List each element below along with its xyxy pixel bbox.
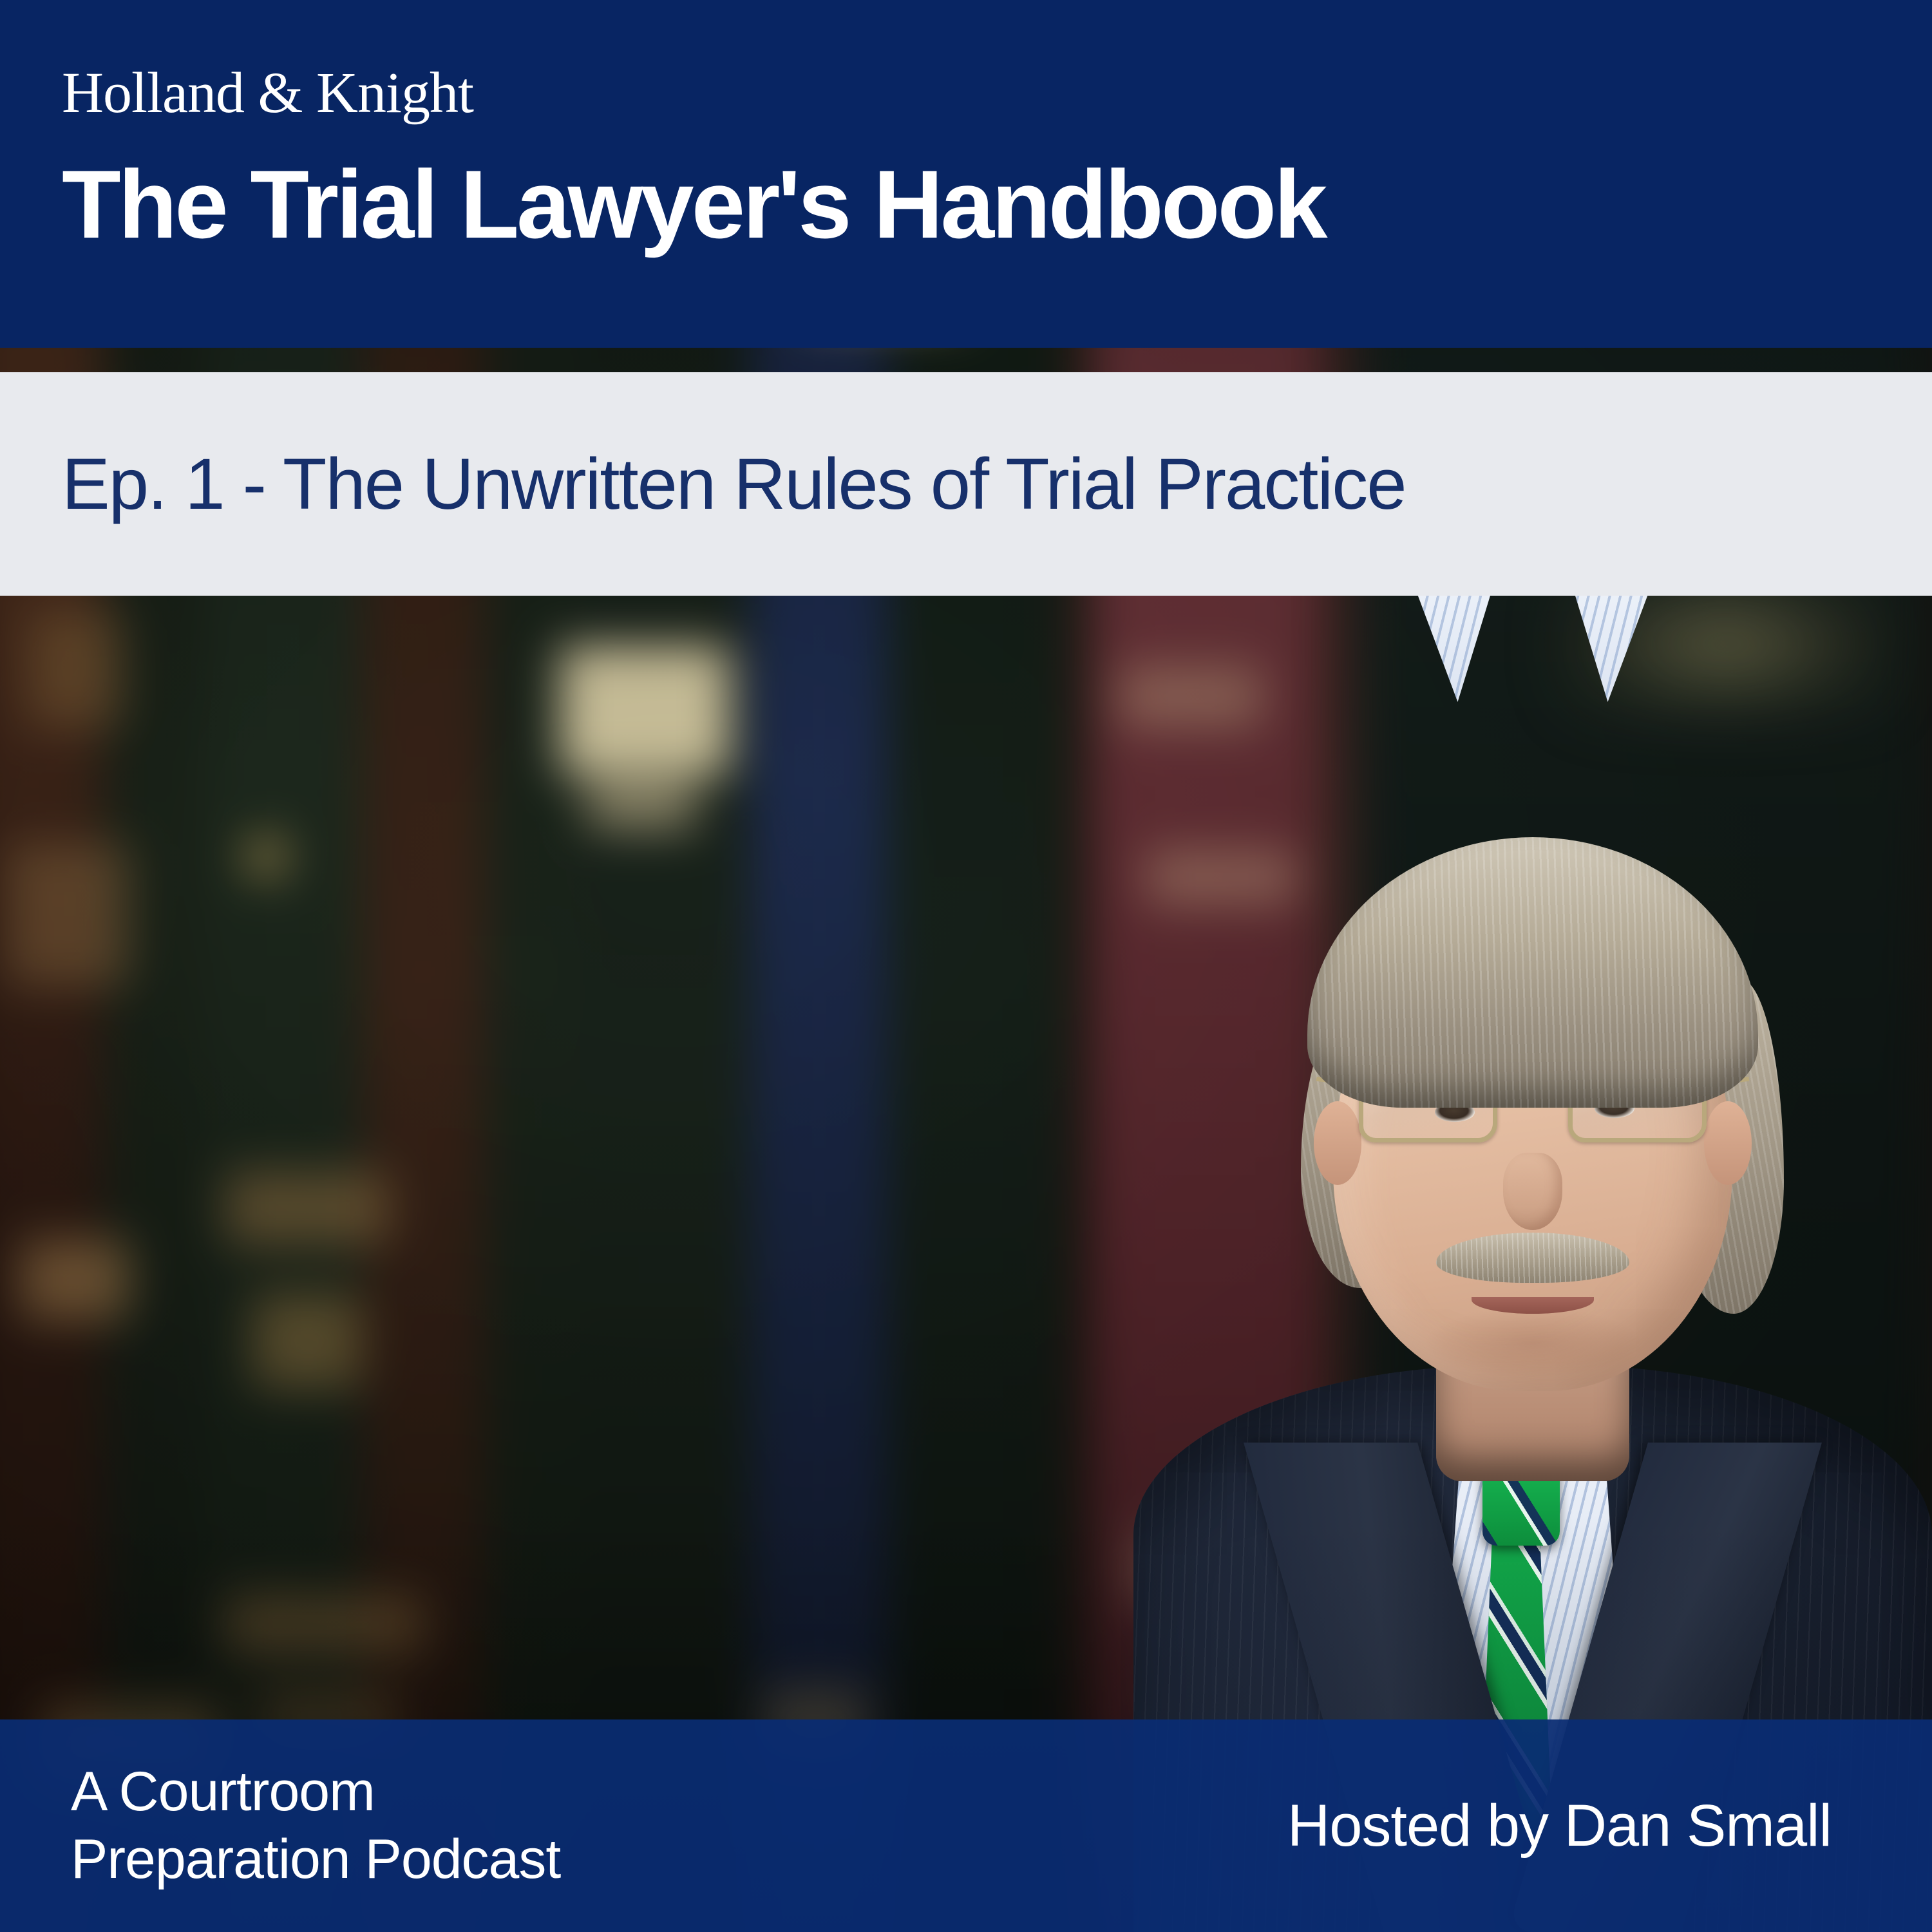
hair [1307, 837, 1758, 1108]
tagline-line-1: A Courtroom [71, 1758, 560, 1826]
mustache [1436, 1233, 1629, 1283]
host-credit: Hosted by Dan Small [1287, 1792, 1870, 1860]
show-title: The Trial Lawyer's Handbook [62, 122, 1870, 310]
podcast-tagline: A Courtroom Preparation Podcast [71, 1758, 560, 1893]
chin-shadow [1423, 1307, 1642, 1378]
tagline-line-2: Preparation Podcast [71, 1826, 560, 1893]
footer-band: A Courtroom Preparation Podcast Hosted b… [0, 1719, 1932, 1932]
podcast-cover-art: Holland & Knight The Trial Lawyer's Hand… [0, 0, 1932, 1932]
header-band: Holland & Knight The Trial Lawyer's Hand… [0, 0, 1932, 348]
episode-title: Ep. 1 - The Unwritten Rules of Trial Pra… [62, 444, 1406, 524]
nose [1503, 1153, 1562, 1230]
holland-knight-logo: Holland & Knight [62, 0, 1870, 122]
episode-band: Ep. 1 - The Unwritten Rules of Trial Pra… [0, 372, 1932, 596]
